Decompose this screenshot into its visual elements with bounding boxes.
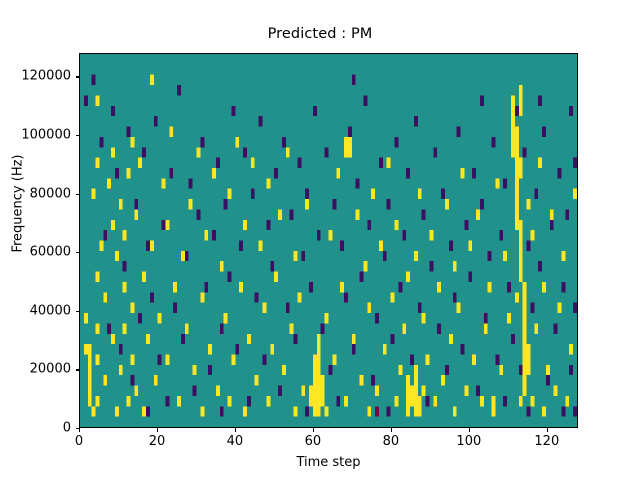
heatmap-canvas	[80, 54, 577, 427]
x-tick-mark	[79, 428, 80, 432]
x-tick-mark	[235, 428, 236, 432]
y-tick-mark	[76, 311, 80, 312]
chart-title: Predicted : PM	[0, 26, 640, 42]
y-axis-label: Frequency (Hz)	[11, 94, 26, 314]
y-tick-label: 0	[63, 421, 71, 436]
y-tick-mark	[76, 76, 80, 77]
y-tick-label: 20000	[30, 362, 71, 377]
matplotlib-figure: Predicted : PM 020406080100120 020000400…	[0, 0, 640, 480]
y-tick-label: 120000	[21, 69, 71, 84]
x-tick-mark	[391, 428, 392, 432]
y-tick-mark	[76, 428, 80, 429]
y-tick-mark	[76, 135, 80, 136]
x-tick-label: 60	[305, 434, 322, 449]
y-tick-label: 40000	[30, 303, 71, 318]
x-tick-mark	[157, 428, 158, 432]
x-tick-label: 40	[227, 434, 244, 449]
x-tick-label: 20	[149, 434, 166, 449]
x-axis-label: Time step	[79, 455, 578, 470]
y-tick-label: 100000	[21, 128, 71, 143]
y-tick-label: 80000	[30, 186, 71, 201]
x-tick-mark	[313, 428, 314, 432]
x-tick-label: 120	[534, 434, 559, 449]
x-tick-label: 80	[383, 434, 400, 449]
x-tick-label: 100	[456, 434, 481, 449]
y-tick-label: 60000	[30, 245, 71, 260]
x-tick-mark	[547, 428, 548, 432]
x-tick-label: 0	[75, 434, 83, 449]
y-tick-mark	[76, 194, 80, 195]
y-tick-mark	[76, 252, 80, 253]
y-tick-mark	[76, 369, 80, 370]
x-tick-mark	[469, 428, 470, 432]
heatmap-plot-area	[79, 53, 578, 428]
